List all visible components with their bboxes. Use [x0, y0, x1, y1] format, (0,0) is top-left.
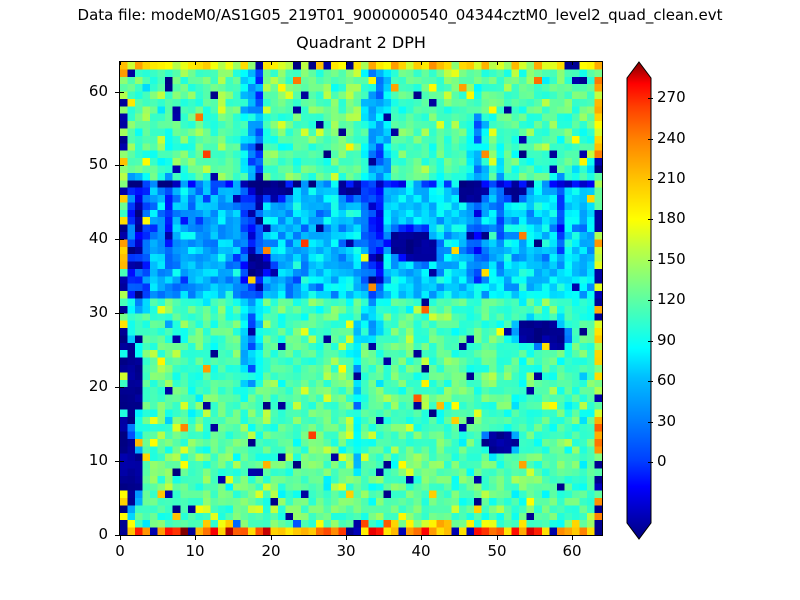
x-tick-mark-top [271, 61, 272, 65]
colorbar-tick-mark [648, 260, 653, 261]
colorbar-tick-label: 90 [657, 332, 676, 349]
x-tick-mark-top [421, 61, 422, 65]
colorbar-tick-label: 240 [657, 130, 686, 147]
figure-suptitle: Data file: modeM0/AS1G05_219T01_90000005… [0, 5, 800, 25]
y-tick-label: 60 [62, 83, 108, 100]
figure-canvas: Data file: modeM0/AS1G05_219T01_90000005… [0, 0, 800, 600]
y-tick-label: 40 [62, 230, 108, 247]
x-tick-mark [421, 536, 422, 540]
colorbar-tick-mark [648, 179, 653, 180]
colorbar-tick-label: 0 [657, 453, 667, 470]
colorbar-tick-mark [648, 219, 653, 220]
y-tick-mark [115, 165, 119, 166]
y-tick-label: 0 [62, 526, 108, 543]
y-tick-label: 50 [62, 156, 108, 173]
x-tick-label: 0 [90, 543, 150, 560]
y-tick-mark [115, 92, 119, 93]
y-tick-mark [115, 239, 119, 240]
x-tick-mark [572, 536, 573, 540]
y-tick-mark-inner [120, 313, 124, 314]
colorbar-tick-mark [648, 300, 653, 301]
colorbar-tick-label: 120 [657, 291, 686, 308]
x-tick-mark-top [346, 61, 347, 65]
x-tick-label: 10 [165, 543, 225, 560]
colorbar-tick-mark [648, 381, 653, 382]
heatmap-image[interactable] [120, 62, 602, 535]
y-tick-mark [115, 313, 119, 314]
y-tick-mark-inner [120, 535, 124, 536]
x-tick-mark-top [195, 61, 196, 65]
x-tick-mark [195, 536, 196, 540]
x-tick-mark-top [497, 61, 498, 65]
colorbar-tick-label: 150 [657, 251, 686, 268]
x-tick-mark [497, 536, 498, 540]
y-tick-mark [115, 387, 119, 388]
plot-title: Quadrant 2 DPH [119, 33, 603, 53]
y-tick-mark [115, 535, 119, 536]
y-tick-label: 10 [62, 452, 108, 469]
x-tick-label: 60 [542, 543, 602, 560]
x-tick-label: 20 [241, 543, 301, 560]
x-tick-mark-top [572, 61, 573, 65]
colorbar-tick-label: 210 [657, 170, 686, 187]
x-tick-label: 50 [467, 543, 527, 560]
x-tick-label: 30 [316, 543, 376, 560]
x-tick-mark [120, 536, 121, 540]
y-tick-mark [115, 461, 119, 462]
y-tick-mark-inner [120, 165, 124, 166]
y-tick-mark-inner [120, 387, 124, 388]
colorbar-tick-mark [648, 341, 653, 342]
x-tick-mark [346, 536, 347, 540]
colorbar-tick-mark [648, 422, 653, 423]
colorbar-tick-label: 60 [657, 372, 676, 389]
colorbar-tick-label: 270 [657, 89, 686, 106]
colorbar-tick-label: 30 [657, 413, 676, 430]
y-tick-mark-inner [120, 461, 124, 462]
heatmap-axes[interactable] [119, 61, 603, 536]
y-tick-mark-inner [120, 92, 124, 93]
colorbar-tick-mark [648, 462, 653, 463]
x-tick-mark [271, 536, 272, 540]
colorbar-tick-mark [648, 139, 653, 140]
x-tick-label: 40 [391, 543, 451, 560]
y-tick-mark-inner [120, 239, 124, 240]
colorbar-tick-mark [648, 98, 653, 99]
x-tick-mark-top [120, 61, 121, 65]
y-tick-label: 30 [62, 304, 108, 321]
y-tick-label: 20 [62, 378, 108, 395]
colorbar-tick-label: 180 [657, 210, 686, 227]
